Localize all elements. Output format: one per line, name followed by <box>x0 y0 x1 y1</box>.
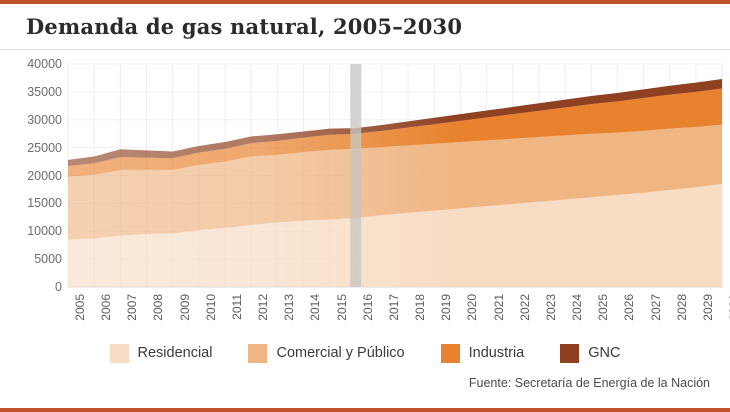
legend-label: Residencial <box>138 345 213 361</box>
x-axis-tick-label: 2028 <box>675 294 689 321</box>
x-axis-tick-label: 2015 <box>335 294 349 321</box>
x-axis-tick-label: 2027 <box>649 294 663 321</box>
x-axis-tick-label: 2007 <box>125 294 139 321</box>
x-axis-tick-label: 2017 <box>387 294 401 321</box>
x-axis-tick-label: 2014 <box>308 294 322 321</box>
year-marker-band <box>350 64 361 287</box>
stacked-area-chart <box>0 52 730 292</box>
x-axis-tick-label: 2006 <box>99 294 113 321</box>
legend-swatch <box>110 344 129 363</box>
x-axis-tick-label: 2009 <box>178 294 192 321</box>
x-axis-tick-label: 2018 <box>413 294 427 321</box>
x-axis: 2005200620072008200920102011201220132014… <box>0 292 730 340</box>
x-axis-tick-label: 2019 <box>439 294 453 321</box>
x-axis-tick-label: 2029 <box>701 294 715 321</box>
legend-item-residencial[interactable]: Residencial <box>110 344 213 363</box>
x-axis-tick-label: 2011 <box>230 294 244 320</box>
x-axis-tick-label: 2020 <box>465 294 479 321</box>
x-axis-tick-label: 2010 <box>204 294 218 321</box>
x-axis-tick-label: 2026 <box>622 294 636 321</box>
title-divider <box>0 49 730 50</box>
legend-item-comercial-y-p-blico[interactable]: Comercial y Público <box>248 344 404 363</box>
legend-label: Industria <box>469 345 525 361</box>
x-axis-tick-label: 2008 <box>151 294 165 321</box>
legend-label: Comercial y Público <box>276 345 404 361</box>
page-title: Demanda de gas natural, 2005–2030 <box>26 14 462 39</box>
x-axis-tick-label: 2024 <box>570 294 584 321</box>
legend-swatch <box>560 344 579 363</box>
x-axis-tick-label: 2023 <box>544 294 558 321</box>
x-axis-tick-label: 2012 <box>256 294 270 321</box>
legend-swatch <box>248 344 267 363</box>
x-axis-tick-label: 2005 <box>73 294 87 321</box>
source-note: Fuente: Secretaría de Energía de la Naci… <box>469 376 710 390</box>
legend-item-industria[interactable]: Industria <box>441 344 525 363</box>
x-axis-tick-label: 2016 <box>361 294 375 321</box>
x-axis-tick-label: 2022 <box>518 294 532 321</box>
x-axis-tick-label: 2025 <box>596 294 610 321</box>
x-axis-tick-label: 2013 <box>282 294 296 321</box>
legend-label: GNC <box>588 345 620 361</box>
legend-swatch <box>441 344 460 363</box>
legend-item-gnc[interactable]: GNC <box>560 344 620 363</box>
chart-legend: ResidencialComercial y PúblicoIndustriaG… <box>0 340 730 366</box>
x-axis-tick-label: 2021 <box>492 294 506 321</box>
chart-card: Demanda de gas natural, 2005–2030 050001… <box>0 0 730 412</box>
plot-area <box>0 52 730 292</box>
